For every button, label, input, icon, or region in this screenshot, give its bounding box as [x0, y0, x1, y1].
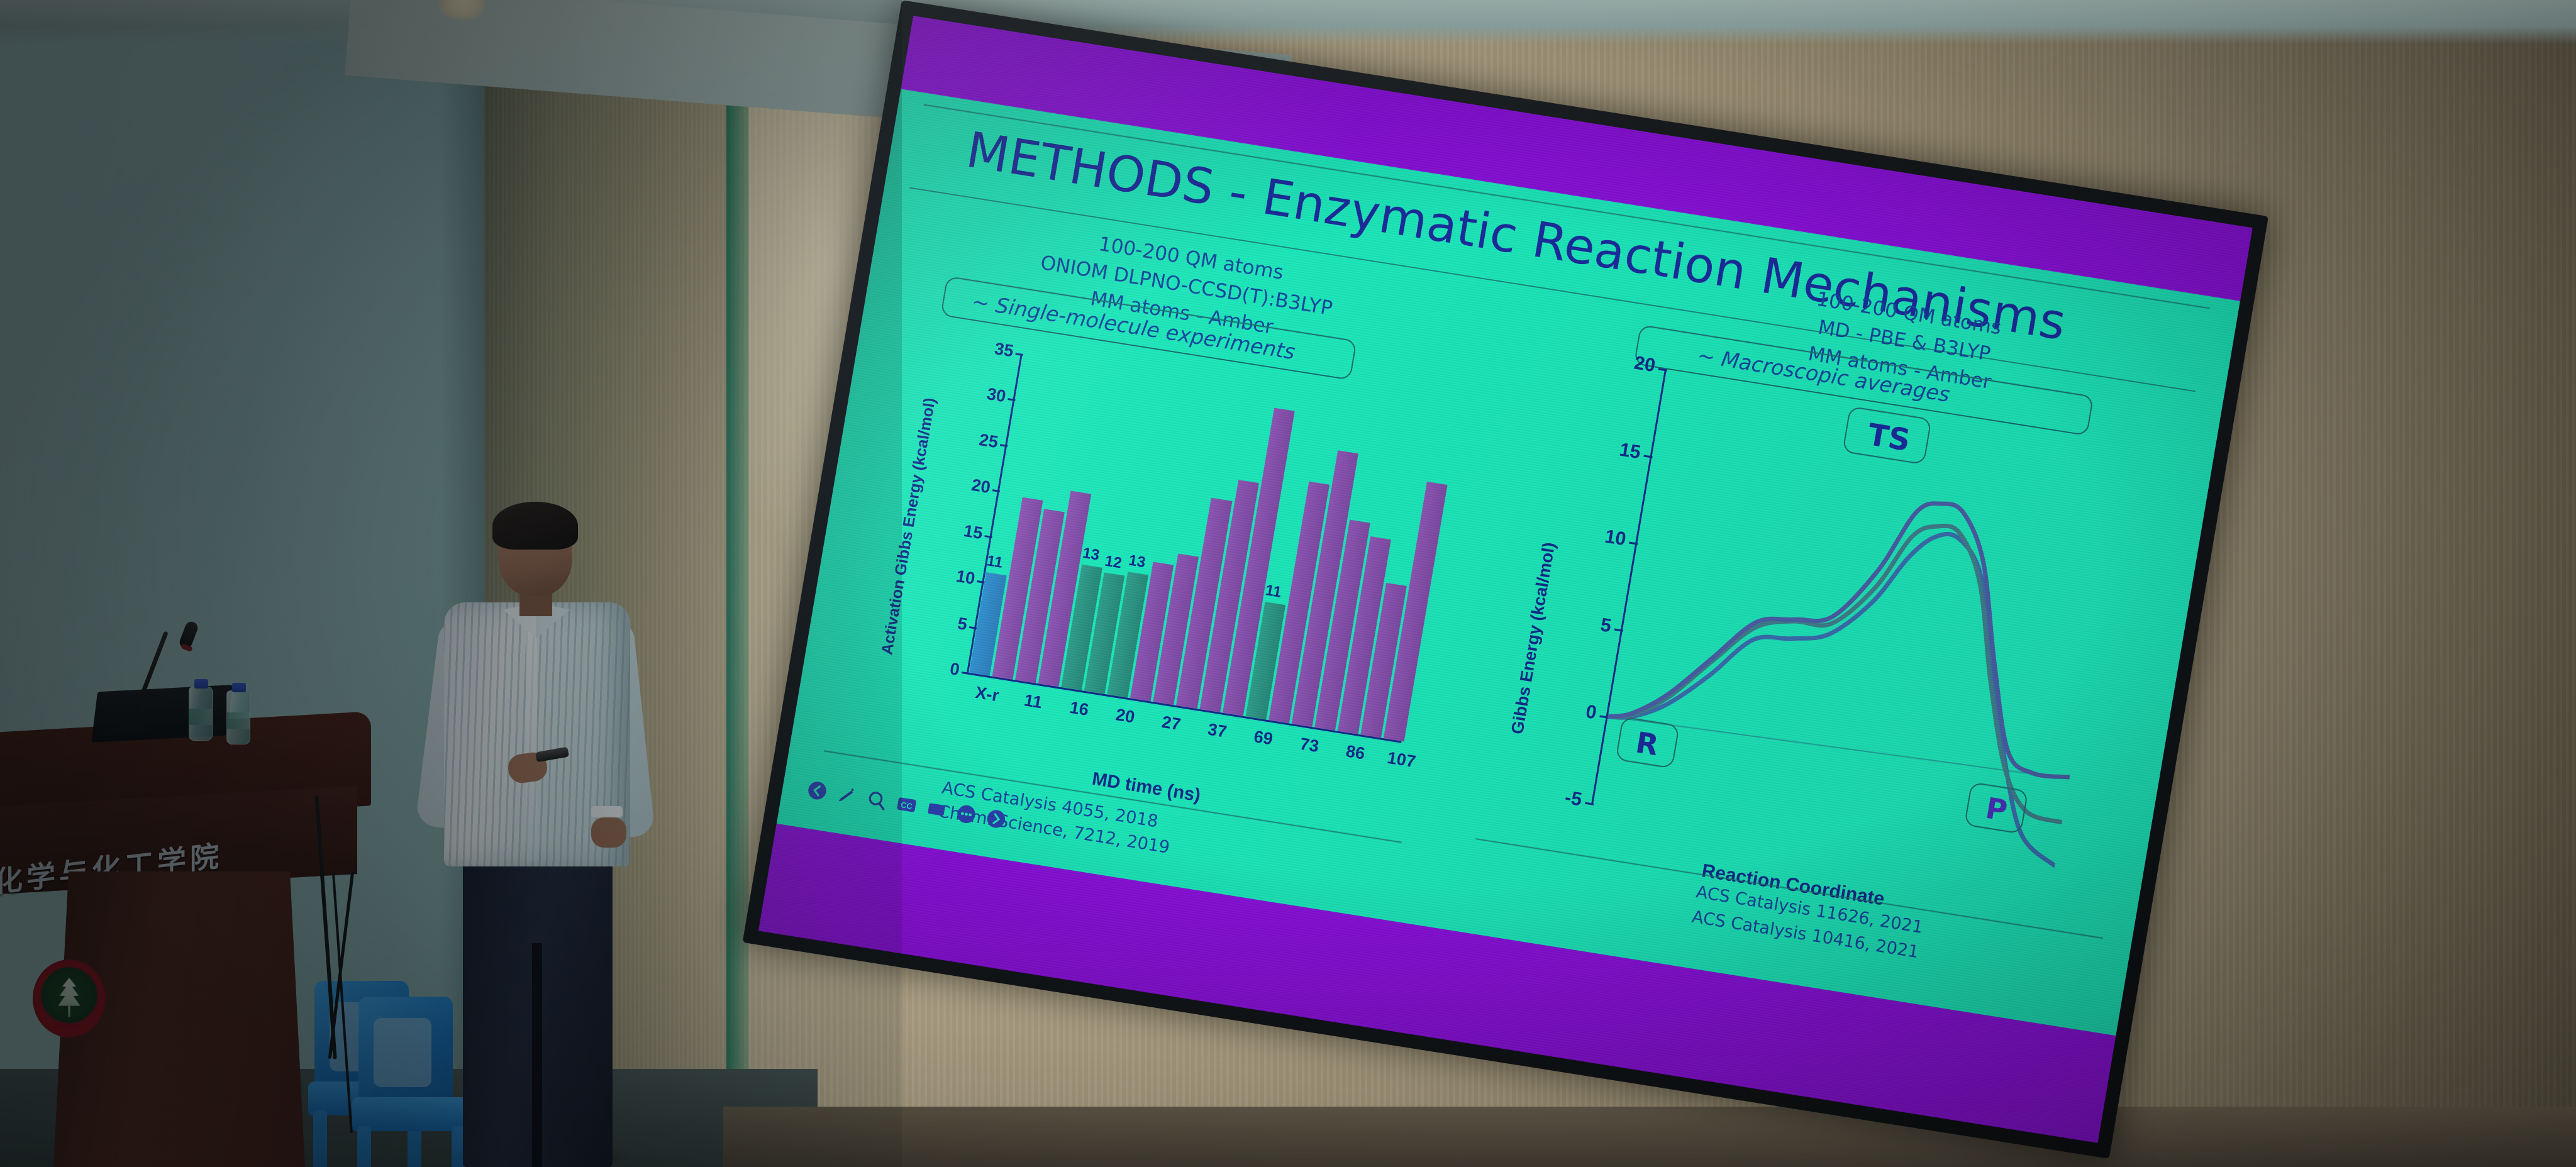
pillar-green-edge: [726, 0, 749, 1167]
water-bottle: [226, 690, 250, 744]
bar-chart-y-axis-label: Activation Gibbs Energy (kcal/mol): [878, 397, 940, 656]
bar-y-tickmark: [962, 672, 969, 675]
bar-y-tick: 30: [968, 382, 1007, 407]
water-bottle: [189, 687, 213, 741]
back-arrow-icon[interactable]: [805, 778, 830, 803]
magnifier-icon[interactable]: [865, 788, 889, 812]
energy-profile-curve: [1608, 457, 2112, 790]
bar-x-tick: 107: [1365, 745, 1437, 775]
more-dots-icon[interactable]: [954, 802, 979, 826]
presenter-shirt-placket: [526, 610, 537, 861]
pen-icon[interactable]: [835, 783, 859, 807]
bar-y-tick: 10: [937, 564, 976, 589]
svg-text:CC: CC: [900, 800, 913, 811]
bar-value-label: 13: [1127, 551, 1146, 572]
lecture-hall-scene: METHODS - Enzymatic Reaction Mechanisms …: [0, 0, 2576, 1167]
line-y-tick: 15: [1600, 436, 1642, 463]
presenter-wristwatch: [591, 806, 623, 817]
bar-y-tick: 0: [922, 655, 961, 680]
bottle-cap: [194, 679, 208, 689]
bar-value-label: 11: [1264, 582, 1283, 602]
podium: 化学与化工学院: [0, 722, 371, 1167]
activation-energy-bar-chart: Activation Gibbs Energy (kcal/mol) MD ti…: [857, 330, 1489, 853]
bottle-cap: [232, 683, 246, 692]
bar-y-tickmark: [977, 580, 984, 583]
bar-y-tick: 15: [945, 518, 984, 543]
ts-label: TS: [1865, 417, 1913, 458]
energy-profile-curve: [1595, 486, 2106, 866]
line-y-tick: 10: [1585, 523, 1628, 550]
logo-ring: [35, 961, 104, 1036]
presenter-right-hand: [591, 817, 626, 848]
line-y-tick: 5: [1571, 610, 1613, 637]
bar-chart-bars: 1113121311: [969, 354, 1458, 741]
bottle-label: [189, 709, 212, 725]
bar-value-label: 11: [985, 553, 1004, 573]
line-y-tick: 0: [1556, 697, 1598, 724]
floor-right: [723, 1107, 2576, 1167]
bar-y-tick: 25: [960, 428, 999, 453]
presenter-trouser-gap: [532, 943, 542, 1167]
line-chart-y-axis-label: Gibbs Energy (kcal/mol): [1507, 541, 1559, 736]
bar-y-tickmark: [1015, 353, 1023, 356]
bar-y-tick: 35: [975, 336, 1014, 362]
bar-y-tickmark: [992, 489, 1000, 492]
presenter: [402, 503, 667, 1167]
line-y-tick: -5: [1541, 783, 1584, 810]
presenter-hair: [492, 502, 578, 550]
bar-y-tickmark: [969, 626, 977, 629]
bar-y-tickmark: [1008, 399, 1015, 402]
bar-y-tick: 20: [953, 473, 992, 498]
forward-arrow-icon[interactable]: [984, 807, 1008, 831]
cc-icon[interactable]: CC: [894, 792, 919, 817]
bar-value-label: 12: [1104, 553, 1123, 573]
caption-box-icon[interactable]: [924, 797, 948, 822]
bottle-label: [227, 712, 250, 729]
bar-y-tick: 5: [930, 609, 969, 634]
bar-value-label: 13: [1081, 545, 1101, 565]
reaction-profile-line-chart: Gibbs Energy (kcal/mol) Reaction Coordin…: [1484, 348, 2149, 954]
university-logo: [33, 960, 106, 1037]
bar-y-tickmark: [984, 535, 992, 538]
bar-y-tickmark: [1000, 444, 1008, 447]
